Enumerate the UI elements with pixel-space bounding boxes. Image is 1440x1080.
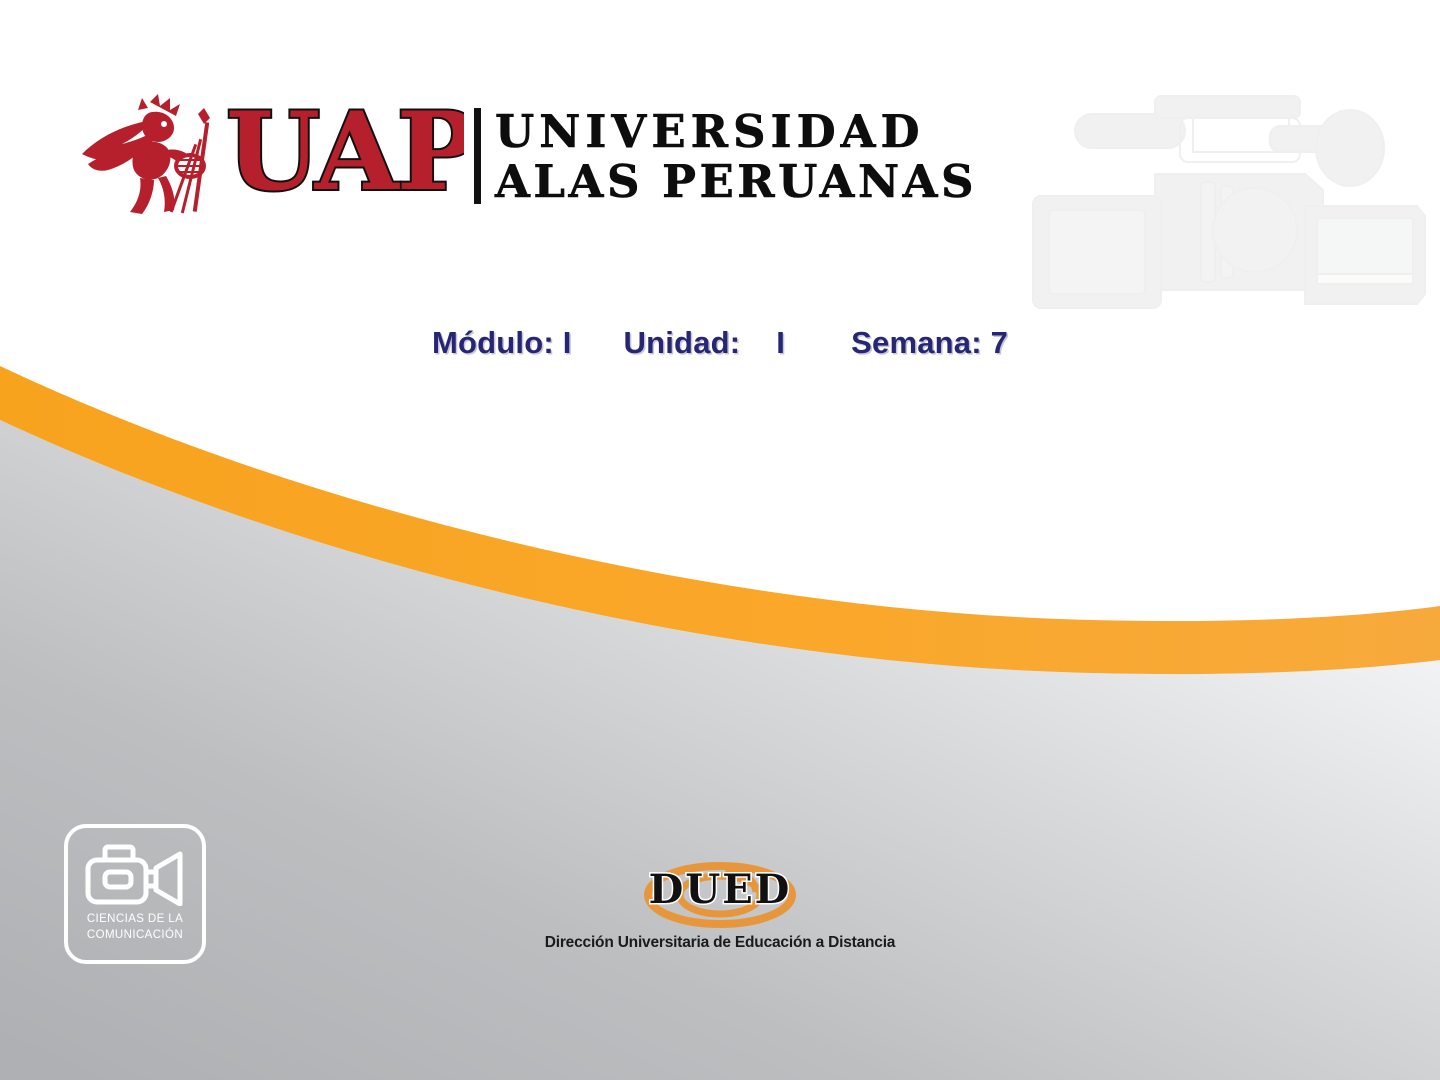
dued-wordmark: DUED	[540, 866, 900, 913]
semana-label: Semana:	[851, 325, 982, 360]
university-name-line1: UNIVERSIDAD	[495, 109, 977, 154]
badge-caption-line1: CIENCIAS DE LA	[68, 912, 202, 928]
camcorder-watermark-icon	[1005, 78, 1440, 323]
uap-logo: UAP UNIVERSIDAD ALAS PERUANAS	[78, 94, 977, 218]
badge-caption: CIENCIAS DE LA COMUNICACIÓN	[68, 912, 202, 943]
logo-divider	[474, 108, 481, 204]
university-name-line2: ALAS PERUANAS	[495, 159, 977, 204]
unidad-value: I	[776, 325, 785, 360]
svg-text:UAP: UAP	[226, 101, 464, 211]
unidad-label: Unidad:	[624, 325, 741, 360]
page-title: Módulo: IUnidad:ISemana: 7	[0, 325, 1440, 361]
semana-value: 7	[991, 325, 1008, 360]
modulo-label: Módulo:	[432, 325, 554, 360]
modulo-value: I	[563, 325, 572, 360]
dued-tagline: Dirección Universitaria de Educación a D…	[540, 934, 900, 952]
badge-caption-line2: COMUNICACIÓN	[68, 928, 202, 944]
winged-warrior-crest-icon	[78, 94, 228, 218]
course-badge: CIENCIAS DE LA COMUNICACIÓN	[64, 824, 206, 964]
video-camera-icon	[83, 844, 187, 906]
slide-canvas: UAP UNIVERSIDAD ALAS PERUANAS Módulo: IU…	[0, 0, 1440, 1080]
university-name: UNIVERSIDAD ALAS PERUANAS	[495, 109, 977, 204]
uap-acronym-wordmark: UAP	[226, 101, 464, 211]
dued-logo: DUED Dirección Universitaria de Educació…	[540, 862, 900, 966]
